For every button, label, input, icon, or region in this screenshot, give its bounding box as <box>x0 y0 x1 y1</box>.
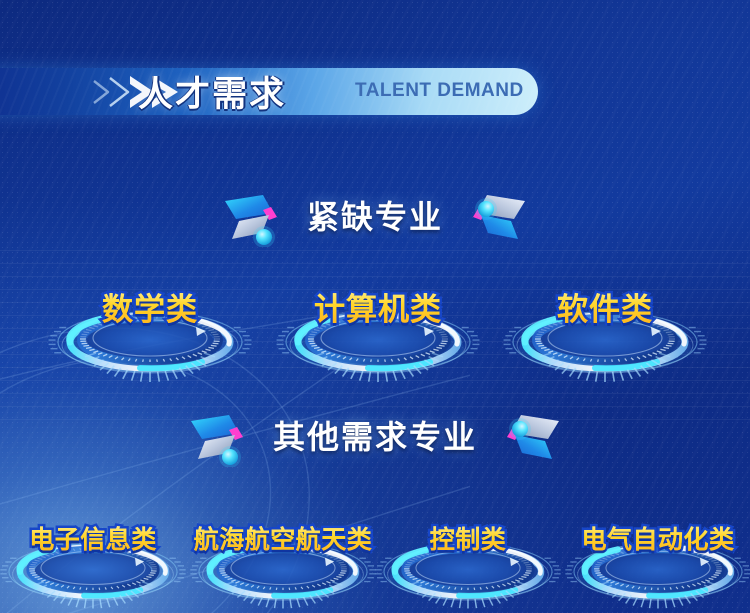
badge-item[interactable]: 数学类 数学类 <box>46 286 254 388</box>
section-header-0: 紧缺专业 <box>225 182 525 248</box>
section-header-1: 其他需求专业 <box>195 402 555 468</box>
banner-title-cn: 人才需求 <box>138 66 286 117</box>
badge-item[interactable]: 控制类 控制类 <box>373 520 563 613</box>
badge-label-highlight: 控制类 <box>373 520 563 556</box>
parallelogram-sphere-right-icon <box>457 183 531 247</box>
parallelogram-sphere-right-icon <box>491 403 565 467</box>
badge-label-highlight: 电子信息类 <box>0 520 188 556</box>
badge-label-highlight: 软件类 <box>501 284 709 329</box>
badge-item[interactable]: 航海航空航天类 航海航空航天类 <box>188 520 378 613</box>
badge-item[interactable]: 电子信息类 电子信息类 <box>0 520 188 613</box>
badge-label-highlight: 数学类 <box>46 284 254 329</box>
badge-label-highlight: 航海航空航天类 <box>188 520 378 556</box>
infographic-canvas: 人才需求 TALENT DEMAND <box>0 0 750 613</box>
section-heading-1: 其他需求专业 <box>273 412 477 458</box>
badge-item[interactable]: 计算机类 计算机类 <box>274 286 482 388</box>
badge-item[interactable]: 软件类 软件类 <box>501 286 709 388</box>
badge-label-highlight: 电气自动化类 <box>563 520 750 556</box>
banner-title-en: TALENT DEMAND <box>355 80 524 102</box>
badge-item[interactable]: 电气自动化类 电气自动化类 <box>563 520 750 613</box>
section-heading-0: 紧缺专业 <box>307 192 443 238</box>
badge-label-highlight: 计算机类 <box>274 284 482 329</box>
parallelogram-sphere-left-icon <box>185 403 259 467</box>
parallelogram-sphere-left-icon <box>219 183 293 247</box>
